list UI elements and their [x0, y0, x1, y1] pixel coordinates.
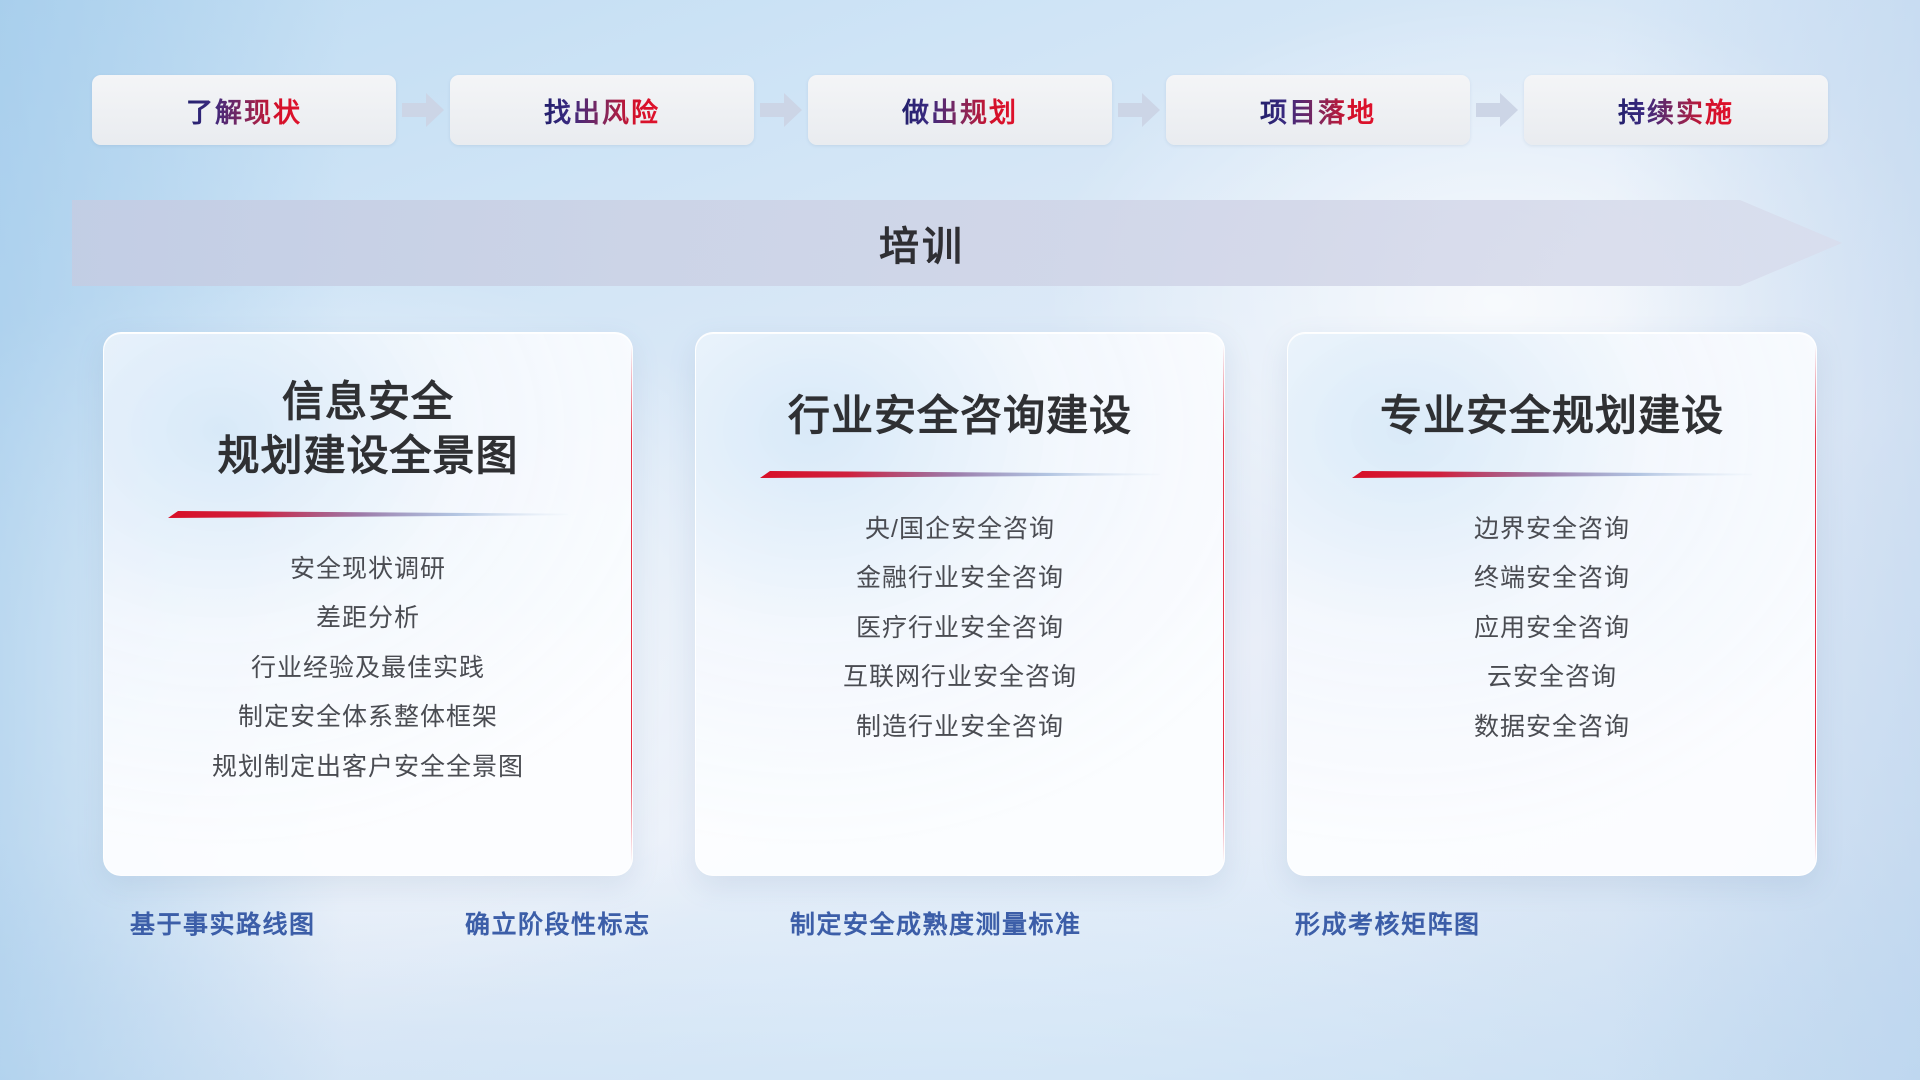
- step-chip-label: 项目落地: [1260, 91, 1376, 130]
- card-item: 差距分析: [316, 598, 420, 639]
- step-chip-1[interactable]: 了解现状: [92, 75, 396, 145]
- step-chip-2[interactable]: 找出风险: [450, 75, 754, 145]
- process-step-row: 了解现状 找出风险 做出规划 项目落地 持续实施: [0, 74, 1920, 146]
- card-title-line: 行业安全咨询建设: [788, 389, 1132, 443]
- card-3[interactable]: 专业安全规划建设 边界安全咨询 终端安全咨询 应用安全咨询: [1287, 332, 1817, 876]
- step-chip-4[interactable]: 项目落地: [1166, 75, 1470, 145]
- card-item: 医疗行业安全咨询: [856, 608, 1064, 649]
- card-item: 金融行业安全咨询: [856, 558, 1064, 599]
- card-item-list: 安全现状调研 差距分析 行业经验及最佳实践 制定安全体系整体框架 规划制定出客户…: [212, 549, 524, 788]
- card-title: 信息安全 规划建设全景图: [191, 375, 544, 483]
- card-item: 云安全咨询: [1487, 657, 1617, 698]
- footer-label-row: 基于事实路线图 确立阶段性标志 制定安全成熟度测量标准 形成考核矩阵图: [0, 905, 1920, 957]
- card-title-line: 专业安全规划建设: [1380, 389, 1724, 443]
- step-chip-label: 了解现状: [186, 91, 302, 130]
- card-item: 制造行业安全咨询: [856, 707, 1064, 748]
- step-chip-label: 做出规划: [902, 91, 1018, 130]
- card-title: 专业安全规划建设: [1354, 389, 1750, 443]
- footer-label-3: 制定安全成熟度测量标准: [790, 905, 1082, 941]
- card-title-line: 信息安全: [217, 375, 518, 429]
- footer-label-1: 基于事实路线图: [130, 905, 316, 941]
- card-item: 制定安全体系整体框架: [238, 697, 498, 738]
- card-item-list: 边界安全咨询 终端安全咨询 应用安全咨询 云安全咨询 数据安全咨询: [1474, 509, 1630, 748]
- gradient-divider: [760, 467, 1160, 483]
- gradient-divider: [168, 507, 568, 523]
- arrow-right-icon: [1470, 75, 1524, 145]
- arrow-right-icon: [1112, 75, 1166, 145]
- step-chip-3[interactable]: 做出规划: [808, 75, 1112, 145]
- card-item: 央/国企安全咨询: [865, 509, 1055, 550]
- card-2[interactable]: 行业安全咨询建设 央/国企安全咨询 金融行业安全咨询 医疗行业安全咨: [695, 332, 1225, 876]
- card-item: 规划制定出客户安全全景图: [212, 747, 524, 788]
- step-chip-label: 持续实施: [1618, 91, 1734, 130]
- step-chip-label: 找出风险: [544, 91, 660, 130]
- card-item: 终端安全咨询: [1474, 558, 1630, 599]
- arrow-right-icon: [754, 75, 808, 145]
- card-item: 互联网行业安全咨询: [843, 657, 1077, 698]
- card-title-line: 规划建设全景图: [217, 429, 518, 483]
- card-item: 行业经验及最佳实践: [251, 648, 485, 689]
- card-item: 数据安全咨询: [1474, 707, 1630, 748]
- card-row: 信息安全 规划建设全景图 安全现状调研 差距分析 行: [0, 332, 1920, 884]
- banner-title: 培训: [72, 200, 1772, 286]
- card-item-list: 央/国企安全咨询 金融行业安全咨询 医疗行业安全咨询 互联网行业安全咨询 制造行…: [843, 509, 1077, 748]
- gradient-divider: [1352, 467, 1752, 483]
- arrow-right-icon: [396, 75, 450, 145]
- card-item: 安全现状调研: [290, 549, 446, 590]
- card-item: 边界安全咨询: [1474, 509, 1630, 550]
- training-banner: 培训: [72, 200, 1842, 286]
- footer-label-4: 形成考核矩阵图: [1295, 905, 1481, 941]
- step-chip-5[interactable]: 持续实施: [1524, 75, 1828, 145]
- footer-label-2: 确立阶段性标志: [465, 905, 651, 941]
- card-item: 应用安全咨询: [1474, 608, 1630, 649]
- card-title: 行业安全咨询建设: [762, 389, 1158, 443]
- card-1[interactable]: 信息安全 规划建设全景图 安全现状调研 差距分析 行: [103, 332, 633, 876]
